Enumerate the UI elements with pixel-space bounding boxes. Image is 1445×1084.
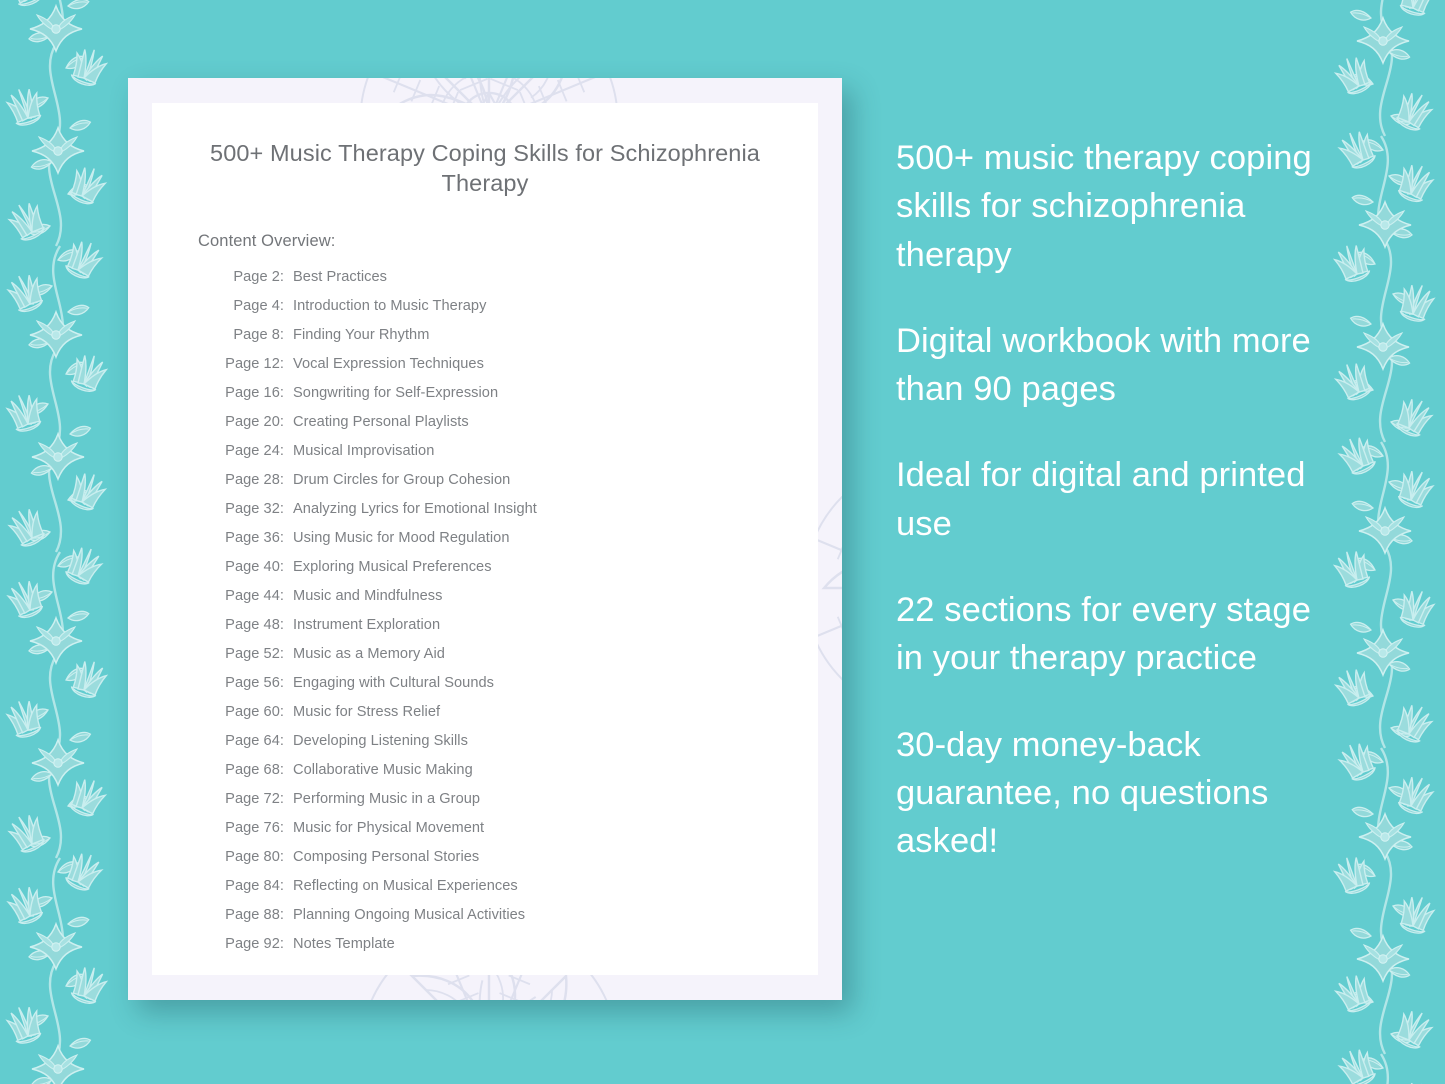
toc-page-number: Page 8: xyxy=(222,327,284,343)
toc-section-title: Musical Improvisation xyxy=(284,443,434,459)
toc-section-title: Engaging with Cultural Sounds xyxy=(284,675,494,691)
toc-section-title: Reflecting on Musical Experiences xyxy=(284,878,518,894)
toc-section-title: Creating Personal Playlists xyxy=(284,414,469,430)
toc-entry: Page 64:Developing Listening Skills xyxy=(222,733,818,762)
toc-entry: Page 92:Notes Template xyxy=(222,936,818,965)
marketing-point: 22 sections for every stage in your ther… xyxy=(896,586,1334,683)
toc-entry: Page 72:Performing Music in a Group xyxy=(222,791,818,820)
toc-entry: Page 4:Introduction to Music Therapy xyxy=(222,298,818,327)
toc-section-title: Songwriting for Self-Expression xyxy=(284,385,498,401)
toc-page-number: Page 32: xyxy=(222,501,284,517)
toc-section-title: Best Practices xyxy=(284,269,387,285)
toc-section-title: Music as a Memory Aid xyxy=(284,646,445,662)
toc-entry: Page 44:Music and Mindfulness xyxy=(222,588,818,617)
toc-page-number: Page 24: xyxy=(222,443,284,459)
toc-page-number: Page 76: xyxy=(222,820,284,836)
toc-entry: Page 36:Using Music for Mood Regulation xyxy=(222,530,818,559)
toc-page-number: Page 60: xyxy=(222,704,284,720)
toc-page-number: Page 20: xyxy=(222,414,284,430)
toc-section-title: Collaborative Music Making xyxy=(284,762,473,778)
toc-entry: Page 12:Vocal Expression Techniques xyxy=(222,356,818,385)
floral-vine-border-left-icon xyxy=(0,0,142,1084)
toc-section-title: Developing Listening Skills xyxy=(284,733,468,749)
toc-page-number: Page 64: xyxy=(222,733,284,749)
toc-entry: Page 88:Planning Ongoing Musical Activit… xyxy=(222,907,818,936)
toc-section-title: Composing Personal Stories xyxy=(284,849,479,865)
toc-entry: Page 76:Music for Physical Movement xyxy=(222,820,818,849)
toc-section-title: Planning Ongoing Musical Activities xyxy=(284,907,525,923)
toc-page-number: Page 12: xyxy=(222,356,284,372)
toc-page-number: Page 4: xyxy=(222,298,284,314)
toc-page-number: Page 28: xyxy=(222,472,284,488)
content-overview-label: Content Overview: xyxy=(152,198,818,251)
marketing-copy: 500+ music therapy coping skills for sch… xyxy=(896,134,1334,866)
toc-section-title: Exploring Musical Preferences xyxy=(284,559,492,575)
toc-page-number: Page 36: xyxy=(222,530,284,546)
toc-page-number: Page 52: xyxy=(222,646,284,662)
toc-entry: Page 48:Instrument Exploration xyxy=(222,617,818,646)
toc-section-title: Drum Circles for Group Cohesion xyxy=(284,472,510,488)
toc-page-number: Page 80: xyxy=(222,849,284,865)
toc-entry: Page 28:Drum Circles for Group Cohesion xyxy=(222,472,818,501)
workbook-inner-page: 500+ Music Therapy Coping Skills for Sch… xyxy=(152,103,818,975)
marketing-point: 30-day money-back guarantee, no question… xyxy=(896,721,1334,866)
toc-entry: Page 84:Reflecting on Musical Experience… xyxy=(222,878,818,907)
toc-page-number: Page 2: xyxy=(222,269,284,285)
toc-entry: Page 16:Songwriting for Self-Expression xyxy=(222,385,818,414)
toc-page-number: Page 68: xyxy=(222,762,284,778)
toc-entry: Page 52:Music as a Memory Aid xyxy=(222,646,818,675)
toc-section-title: Music for Physical Movement xyxy=(284,820,484,836)
toc-section-title: Notes Template xyxy=(284,936,395,952)
product-listing-image: 500+ Music Therapy Coping Skills for Sch… xyxy=(0,0,1445,1084)
toc-section-title: Using Music for Mood Regulation xyxy=(284,530,510,546)
table-of-contents: Page 2:Best PracticesPage 4:Introduction… xyxy=(152,251,818,965)
toc-section-title: Music for Stress Relief xyxy=(284,704,440,720)
marketing-point: Ideal for digital and printed use xyxy=(896,451,1334,548)
toc-entry: Page 40:Exploring Musical Preferences xyxy=(222,559,818,588)
toc-section-title: Performing Music in a Group xyxy=(284,791,480,807)
toc-section-title: Vocal Expression Techniques xyxy=(284,356,484,372)
toc-entry: Page 68:Collaborative Music Making xyxy=(222,762,818,791)
toc-page-number: Page 72: xyxy=(222,791,284,807)
toc-page-number: Page 88: xyxy=(222,907,284,923)
toc-entry: Page 20:Creating Personal Playlists xyxy=(222,414,818,443)
toc-page-number: Page 16: xyxy=(222,385,284,401)
marketing-point: 500+ music therapy coping skills for sch… xyxy=(896,134,1334,279)
toc-entry: Page 2:Best Practices xyxy=(222,269,818,298)
toc-page-number: Page 92: xyxy=(222,936,284,952)
toc-section-title: Finding Your Rhythm xyxy=(284,327,429,343)
toc-section-title: Instrument Exploration xyxy=(284,617,440,633)
toc-page-number: Page 44: xyxy=(222,588,284,604)
toc-entry: Page 32:Analyzing Lyrics for Emotional I… xyxy=(222,501,818,530)
toc-entry: Page 24:Musical Improvisation xyxy=(222,443,818,472)
toc-section-title: Introduction to Music Therapy xyxy=(284,298,486,314)
page-title: 500+ Music Therapy Coping Skills for Sch… xyxy=(152,103,818,198)
toc-page-number: Page 40: xyxy=(222,559,284,575)
toc-section-title: Analyzing Lyrics for Emotional Insight xyxy=(284,501,537,517)
toc-entry: Page 60:Music for Stress Relief xyxy=(222,704,818,733)
marketing-point: Digital workbook with more than 90 pages xyxy=(896,317,1334,414)
toc-page-number: Page 84: xyxy=(222,878,284,894)
workbook-page-card: 500+ Music Therapy Coping Skills for Sch… xyxy=(128,78,842,1000)
toc-entry: Page 8:Finding Your Rhythm xyxy=(222,327,818,356)
toc-section-title: Music and Mindfulness xyxy=(284,588,443,604)
toc-page-number: Page 56: xyxy=(222,675,284,691)
toc-page-number: Page 48: xyxy=(222,617,284,633)
toc-entry: Page 56:Engaging with Cultural Sounds xyxy=(222,675,818,704)
toc-entry: Page 80:Composing Personal Stories xyxy=(222,849,818,878)
